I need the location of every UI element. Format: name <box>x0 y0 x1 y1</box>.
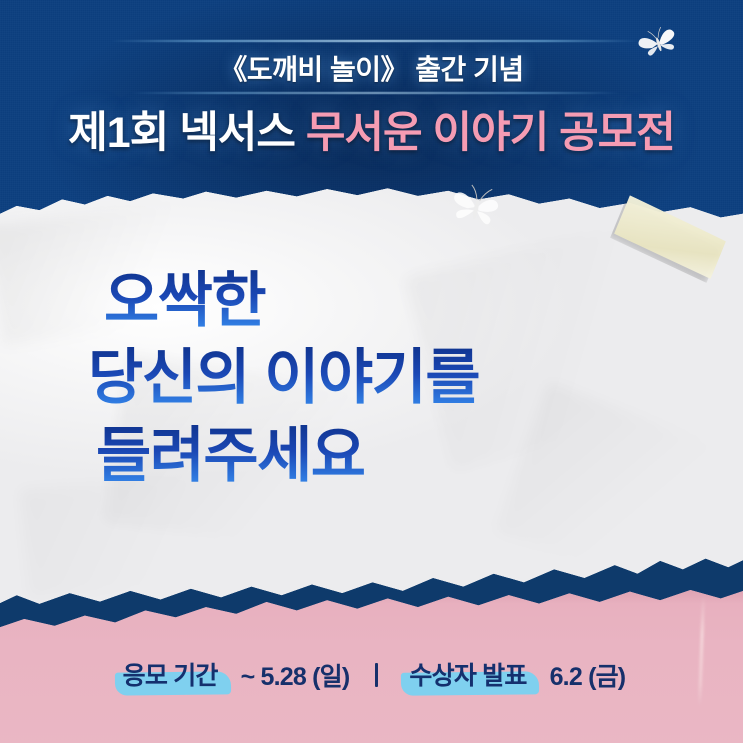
headline-pink-part: 무서운 이야기 공모전 <box>306 109 675 157</box>
submission-period-group: 응모 기간 ~ 5.28 (일) <box>118 655 350 695</box>
info-row: 응모 기간 ~ 5.28 (일) 수상자 발표 6.2 (금) <box>0 655 743 695</box>
eyebrow-text: 《도깨비 놀이》 출간 기념 <box>0 48 743 88</box>
main-message: 오싹한 당신의 이야기를 들려주세요 <box>88 262 688 494</box>
announcement-value: 6.2 (금) <box>550 657 626 693</box>
headline: 제1회 넥서스 무서운 이야기 공모전 <box>0 98 743 160</box>
butterfly-icon <box>442 175 511 244</box>
promo-poster: 《도깨비 놀이》 출간 기념 제1회 넥서스 무서운 이야기 공모전 <box>0 0 743 743</box>
submission-period-value: ~ 5.28 (일) <box>241 657 350 693</box>
announcement-label: 수상자 발표 <box>404 655 531 695</box>
announcement-group: 수상자 발표 6.2 (금) <box>404 655 625 695</box>
submission-period-label: 응모 기간 <box>118 655 223 695</box>
glow-rule-bottom <box>130 92 620 94</box>
info-divider <box>375 663 378 687</box>
main-message-line-2: 당신의 이야기를 <box>88 339 688 416</box>
headline-white-part: 제1회 넥서스 <box>68 109 306 157</box>
glow-rule-top <box>110 40 640 42</box>
main-message-line-3: 들려주세요 <box>96 417 688 494</box>
main-message-line-1: 오싹한 <box>104 262 688 339</box>
